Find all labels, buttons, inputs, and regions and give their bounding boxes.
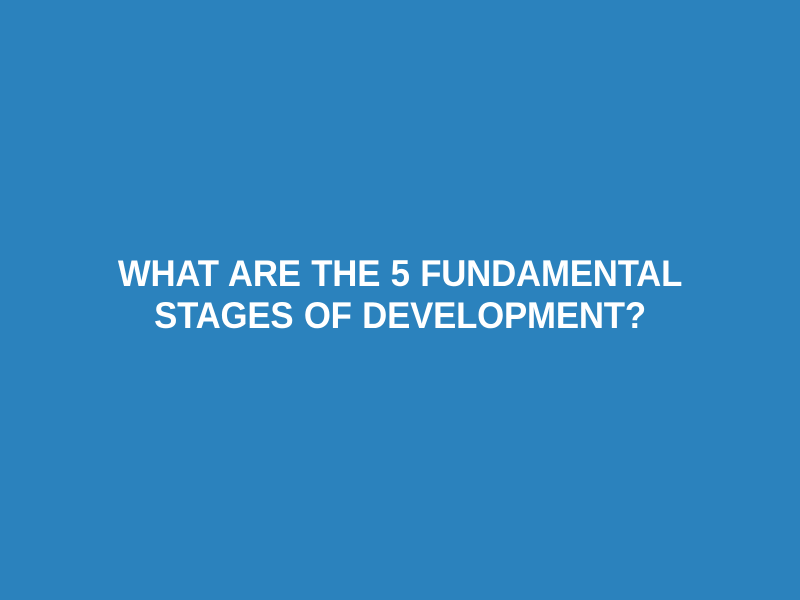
title-card: WHAT ARE THE 5 FUNDAMENTAL STAGES OF DEV… — [0, 0, 800, 600]
headline-block: WHAT ARE THE 5 FUNDAMENTAL STAGES OF DEV… — [50, 253, 750, 337]
page-title: WHAT ARE THE 5 FUNDAMENTAL STAGES OF DEV… — [71, 253, 729, 337]
